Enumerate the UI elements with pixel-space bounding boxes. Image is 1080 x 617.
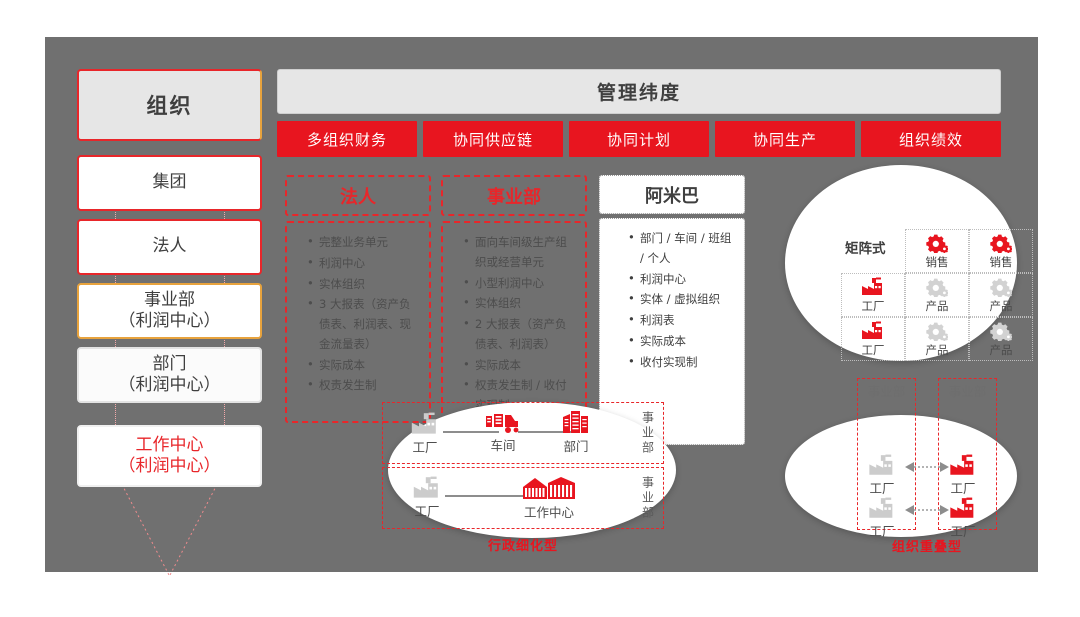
gear-gray-icon [990, 321, 1012, 341]
gear-gray-icon [926, 277, 948, 297]
card-bullet: 实际成本 [463, 356, 575, 376]
factory-gray-icon [411, 476, 443, 500]
org-overlap-node-label: 工厂 [869, 478, 894, 497]
double-arrow-icon [905, 504, 949, 516]
matrix-cell-label: 销售 [926, 254, 949, 270]
card-bullet: 权责发生制 [307, 376, 419, 396]
org-overlap-caption: 组织重叠型 [857, 536, 997, 555]
card-bullet: 实体 / 虚拟组织 [628, 290, 734, 310]
matrix-cell-sales-1[interactable]: 销售 [905, 229, 969, 273]
factory-gray-icon [409, 412, 441, 436]
admin-refine-caption: 行政细化型 [382, 535, 664, 554]
org-overlap-node-gray-1[interactable]: 工厂 [866, 454, 898, 497]
admin-refine-side-label-1: 事业部 [636, 405, 660, 461]
matrix-cell-product-3[interactable]: 产品 [905, 317, 969, 361]
diagram-canvas: 组织 集团 法人 事业部 （利润中心） 部门 （利润中心） 工作中心 （利润中心… [45, 37, 1038, 572]
dimension-tab-row: 多组织财务 协同供应链 协同计划 协同生产 组织绩效 [277, 121, 1001, 157]
management-dimension-title: 管理纬度 [277, 69, 1001, 114]
factory-red-icon [947, 454, 979, 477]
admin-node-department[interactable]: 部门 [561, 410, 591, 455]
org-overlap-column-label-right: 事业部 [938, 381, 997, 400]
sidebar-level-label: 部门 （利润中心） [119, 354, 221, 397]
admin-connector-3 [445, 495, 530, 497]
admin-node-factory-2[interactable]: 工厂 [411, 476, 443, 520]
sidebar-level-line1: 工作中心 [136, 435, 204, 455]
factory-gray-icon [866, 497, 898, 520]
double-arrow-icon [905, 461, 949, 473]
card-body: 完整业务单元 利润中心 实体组织 3 大报表（资产负债表、利润表、现金流量表） … [285, 221, 431, 423]
card-bullet: 利润中心 [307, 254, 419, 274]
card-bullet: 实体组织 [307, 275, 419, 295]
card-bullet: 利润中心 [628, 270, 734, 290]
matrix-cell-label: 销售 [990, 254, 1013, 270]
card-bullet: 2 大报表（资产负债表、利润表） [463, 315, 575, 355]
card-body: 面向车间级生产组织或经营单元 小型利润中心 实体组织 2 大报表（资产负债表、利… [441, 221, 587, 423]
sidebar-level-line2: （利润中心） [119, 456, 221, 476]
gear-red-icon [990, 233, 1012, 253]
card-bullet: 实际成本 [628, 332, 734, 352]
dimension-tab-multi-org-finance[interactable]: 多组织财务 [277, 121, 417, 157]
sidebar-level-line2: （利润中心） [119, 375, 221, 395]
org-overlap-column-label-left: 事业部 [857, 381, 916, 400]
admin-node-label: 工作中心 [524, 502, 574, 521]
card-bullet: 收付实现制 [628, 353, 734, 373]
admin-node-label: 车间 [490, 435, 515, 454]
card-title: 法人 [285, 175, 431, 216]
matrix-cell-sales-2[interactable]: 销售 [969, 229, 1033, 273]
card-title: 阿米巴 [599, 175, 745, 214]
card-bullet: 部门 / 车间 / 班组 / 个人 [628, 229, 734, 269]
card-bullet: 小型利润中心 [463, 274, 575, 294]
sidebar-level-line2: （利润中心） [119, 311, 221, 331]
card-bullet: 完整业务单元 [307, 233, 419, 253]
admin-node-label: 工厂 [414, 501, 439, 520]
matrix-cell-factory-2[interactable]: 工厂 [841, 317, 905, 361]
sidebar-level-label: 事业部 （利润中心） [119, 290, 221, 333]
buildings-red-icon [521, 474, 577, 501]
forklift-red-icon [486, 412, 520, 434]
card-legal-entity: 法人 完整业务单元 利润中心 实体组织 3 大报表（资产负债表、利润表、现金流量… [285, 175, 431, 423]
admin-node-workshop[interactable]: 车间 [486, 412, 520, 454]
sidebar-level-label: 法人 [153, 236, 187, 257]
sidebar-level-line1: 部门 [153, 354, 187, 374]
org-overlap-node-red-2[interactable]: 工厂 [947, 497, 979, 540]
sidebar-title-organization: 组织 [77, 69, 262, 141]
card-bullet: 实际成本 [307, 356, 419, 376]
sidebar-level-line1: 事业部 [144, 290, 195, 310]
sidebar-level-department[interactable]: 部门 （利润中心） [77, 347, 262, 403]
factory-red-icon [860, 321, 886, 341]
gear-red-icon [926, 233, 948, 253]
card-bullet-list: 面向车间级生产组织或经营单元 小型利润中心 实体组织 2 大报表（资产负债表、利… [449, 233, 579, 416]
gear-gray-icon [926, 321, 948, 341]
building-red-icon [561, 410, 591, 435]
dimension-tab-org-performance[interactable]: 组织绩效 [861, 121, 1001, 157]
matrix-cell-label: 产品 [990, 342, 1013, 358]
matrix-cell-product-1[interactable]: 产品 [905, 273, 969, 317]
matrix-cell-label: 产品 [990, 298, 1013, 314]
admin-refine-side-label-2: 事业部 [636, 470, 660, 526]
card-bullet: 3 大报表（资产负债表、利润表、现金流量表） [307, 295, 419, 354]
admin-node-label: 工厂 [412, 437, 437, 456]
matrix-cell-factory-1[interactable]: 工厂 [841, 273, 905, 317]
sidebar-level-group[interactable]: 集团 [77, 155, 262, 211]
matrix-cell-label: 工厂 [862, 298, 885, 314]
factory-gray-icon [866, 454, 898, 477]
factory-red-icon [947, 497, 979, 520]
card-bullet: 面向车间级生产组织或经营单元 [463, 233, 575, 273]
gear-gray-icon [990, 277, 1012, 297]
card-bullet-list: 完整业务单元 利润中心 实体组织 3 大报表（资产负债表、利润表、现金流量表） … [293, 233, 423, 396]
sidebar-level-legal-entity[interactable]: 法人 [77, 219, 262, 275]
matrix-cell-label: 产品 [926, 342, 949, 358]
org-overlap-node-red-1[interactable]: 工厂 [947, 454, 979, 497]
matrix-cell-label: 工厂 [862, 342, 885, 358]
card-title: 事业部 [441, 175, 587, 216]
card-business-unit: 事业部 面向车间级生产组织或经营单元 小型利润中心 实体组织 2 大报表（资产负… [441, 175, 587, 423]
matrix-cell-label: 产品 [926, 298, 949, 314]
card-bullet: 利润表 [628, 311, 734, 331]
sidebar-level-label: 集团 [153, 172, 187, 193]
card-bullet-list: 部门 / 车间 / 班组 / 个人 利润中心 实体 / 虚拟组织 利润表 实际成… [606, 229, 738, 372]
dimension-tab-collaborative-supply-chain[interactable]: 协同供应链 [423, 121, 563, 157]
dimension-tab-collaborative-production[interactable]: 协同生产 [715, 121, 855, 157]
admin-node-work-center[interactable]: 工作中心 [521, 474, 577, 521]
org-overlap-node-label: 工厂 [950, 478, 975, 497]
sidebar-level-business-unit[interactable]: 事业部 （利润中心） [77, 283, 262, 339]
org-overlap-node-gray-2[interactable]: 工厂 [866, 497, 898, 540]
matrix-cell-product-4[interactable]: 产品 [969, 317, 1033, 361]
sidebar-level-label: 工作中心 （利润中心） [119, 435, 221, 478]
matrix-cell-product-2[interactable]: 产品 [969, 273, 1033, 317]
factory-red-icon [860, 277, 886, 297]
sidebar-level-work-center[interactable]: 工作中心 （利润中心） [77, 425, 262, 487]
matrix-type-label: 矩阵式 [845, 237, 886, 257]
dimension-tab-collaborative-planning[interactable]: 协同计划 [569, 121, 709, 157]
card-bullet: 实体组织 [463, 294, 575, 314]
admin-node-factory-1[interactable]: 工厂 [409, 412, 441, 456]
admin-node-label: 部门 [563, 436, 588, 455]
